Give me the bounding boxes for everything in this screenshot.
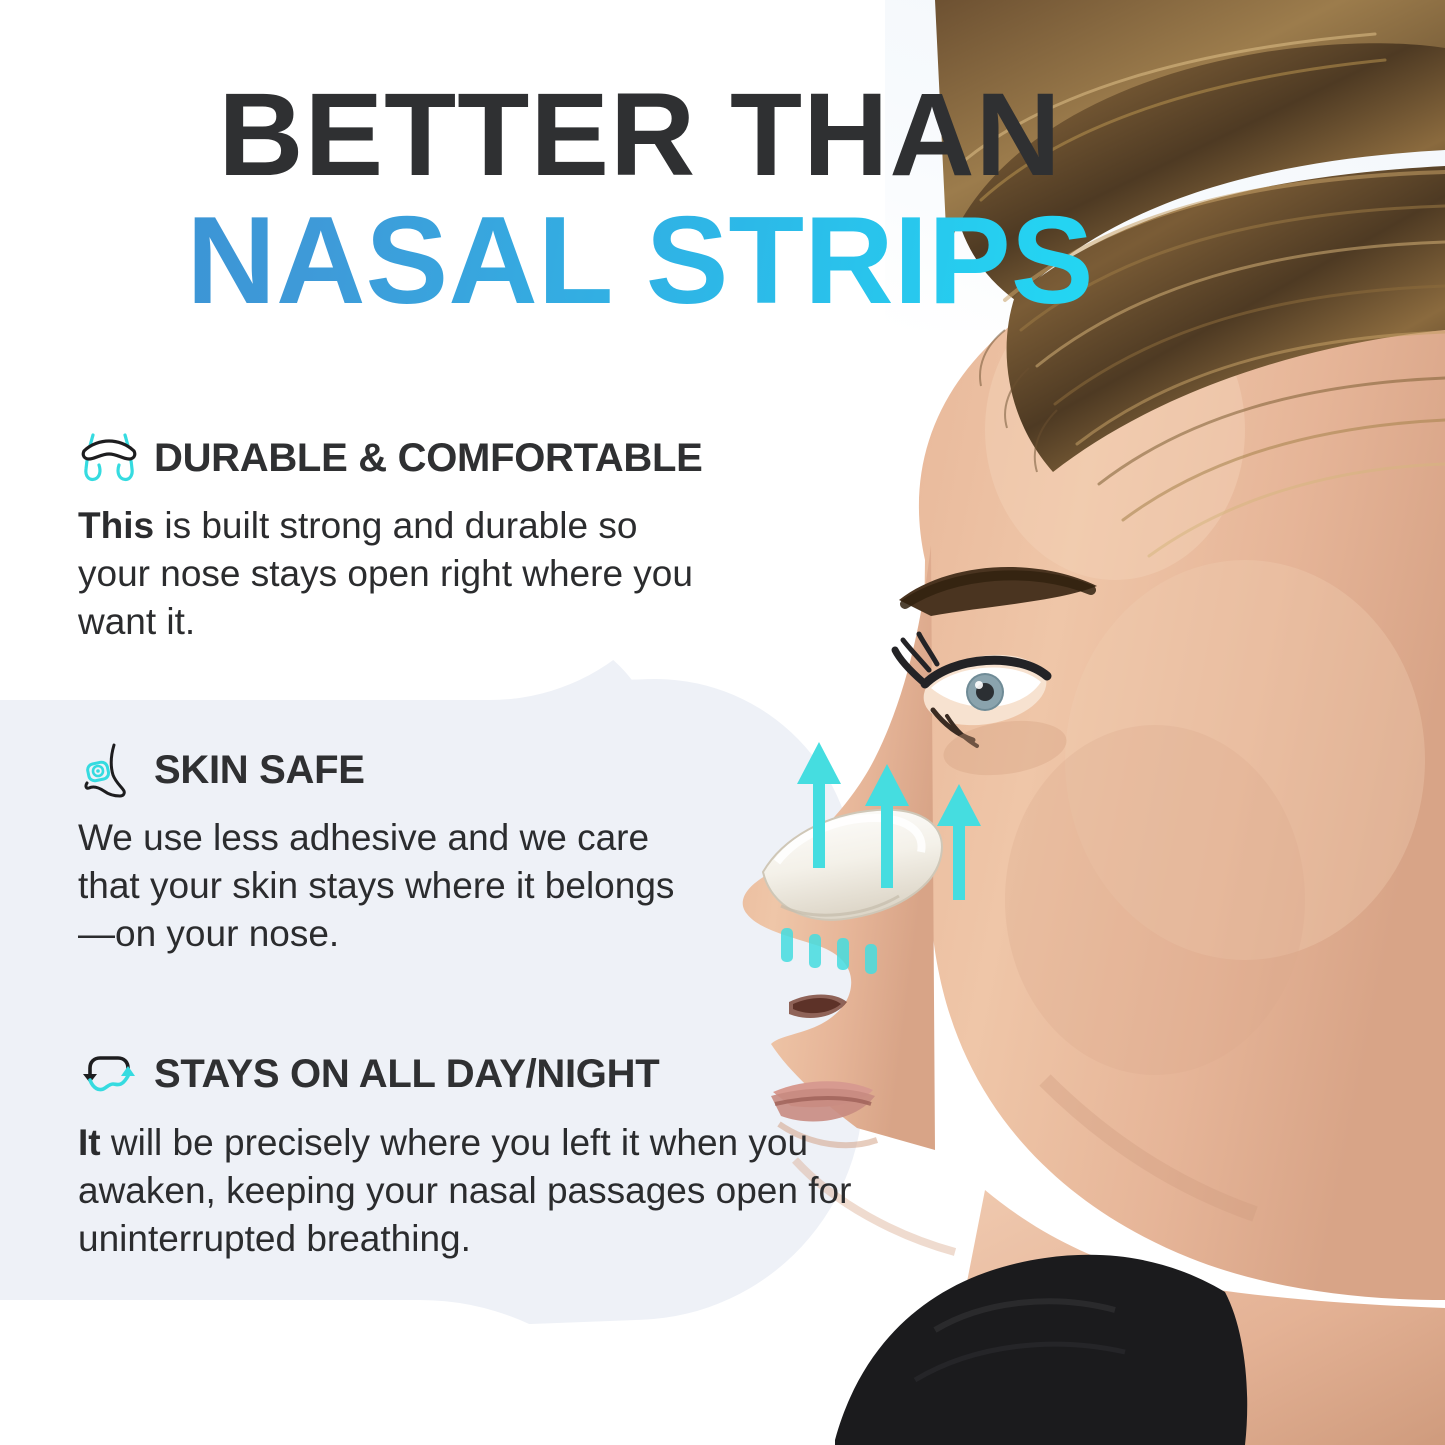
nose-profile-patch-icon [78, 742, 140, 798]
feature-body: It will be precisely where you left it w… [78, 1119, 908, 1263]
feature-title: STAYS ON ALL DAY/NIGHT [154, 1052, 659, 1097]
headline-line-2: NASAL STRIPS [0, 194, 1280, 324]
feature-header: SKIN SAFE [78, 742, 908, 798]
feature-body-rest: We use less adhesive and we care that yo… [78, 817, 674, 954]
nasal-strip-loop-arrows-icon [78, 1047, 140, 1103]
feature-body: We use less adhesive and we care that yo… [78, 814, 698, 958]
feature-body: This is built strong and durable so your… [78, 502, 698, 646]
feature-title: DURABLE & COMFORTABLE [154, 436, 702, 481]
feature-body-emphasis: This [78, 505, 154, 546]
headline-line-1: BETTER THAN [0, 78, 1280, 194]
headline: BETTER THAN NASAL STRIPS [0, 78, 1280, 324]
feature-body-rest: is built strong and durable so your nose… [78, 505, 693, 642]
feature-body-rest: will be precisely where you left it when… [78, 1122, 851, 1259]
feature-header: STAYS ON ALL DAY/NIGHT [78, 1047, 908, 1103]
feature-body-emphasis: It [78, 1122, 101, 1163]
feature-stays-on-all-day-night: STAYS ON ALL DAY/NIGHT It will be precis… [78, 1047, 908, 1263]
feature-header: DURABLE & COMFORTABLE [78, 430, 908, 486]
infographic-canvas: BETTER THAN NASAL STRIPS DURABLE & COMFO… [0, 0, 1445, 1445]
feature-durable-comfortable: DURABLE & COMFORTABLE This is built stro… [78, 430, 908, 646]
feature-skin-safe: SKIN SAFE We use less adhesive and we ca… [78, 742, 908, 958]
nasal-dilator-airflow-icon [78, 430, 140, 486]
feature-title: SKIN SAFE [154, 748, 365, 793]
feature-list: DURABLE & COMFORTABLE This is built stro… [78, 430, 908, 1273]
